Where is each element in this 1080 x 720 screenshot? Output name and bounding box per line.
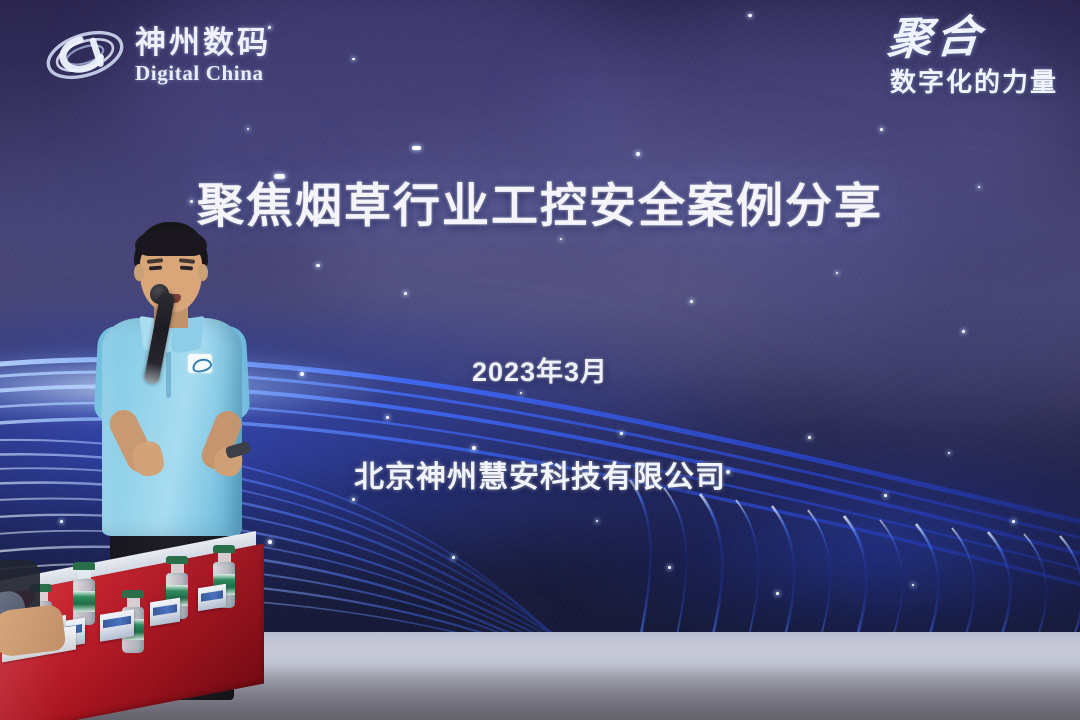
digital-china-wordmark: 神州数码 Digital China [135,27,271,84]
name-card [150,598,180,627]
bottle-neck [127,598,140,607]
shirt-placket [166,346,171,398]
shirt-logo-badge-icon [188,354,212,373]
event-subtitle: 数字化的力量 [808,62,1058,99]
bottle-cap [166,556,188,564]
presenter-ear-left [134,264,144,281]
presenter-eye-right [180,266,193,271]
bottle-cap [73,562,95,570]
digital-china-brand-lockup: 神州数码 Digital China [44,18,271,92]
presenter-hair-fringe [135,229,207,256]
seated-attendee-arm [0,604,67,659]
brand-name-en: Digital China [135,63,271,84]
presenter-ear-right [198,264,208,281]
brand-name-cn: 神州数码 [135,27,271,58]
water-bottle [73,562,95,625]
digital-china-swirl-logo-icon [44,18,126,92]
name-card [100,609,134,641]
bottle-cap [213,545,235,553]
bottle-label [73,591,95,612]
event-calligraphy: 聚合 [805,14,986,66]
name-card [198,584,226,611]
bottle-neck [171,564,184,573]
event-slogan-lockup: 聚合 数字化的力量 [808,14,1058,99]
conference-stage-scene: 聚焦烟草行业工控安全案例分享 2023年3月 北京神州慧安科技有限公司 神州数码 [0,0,1080,720]
bottle-neck [218,553,231,562]
bottle-cap [122,590,144,598]
bottle-neck [78,570,91,579]
